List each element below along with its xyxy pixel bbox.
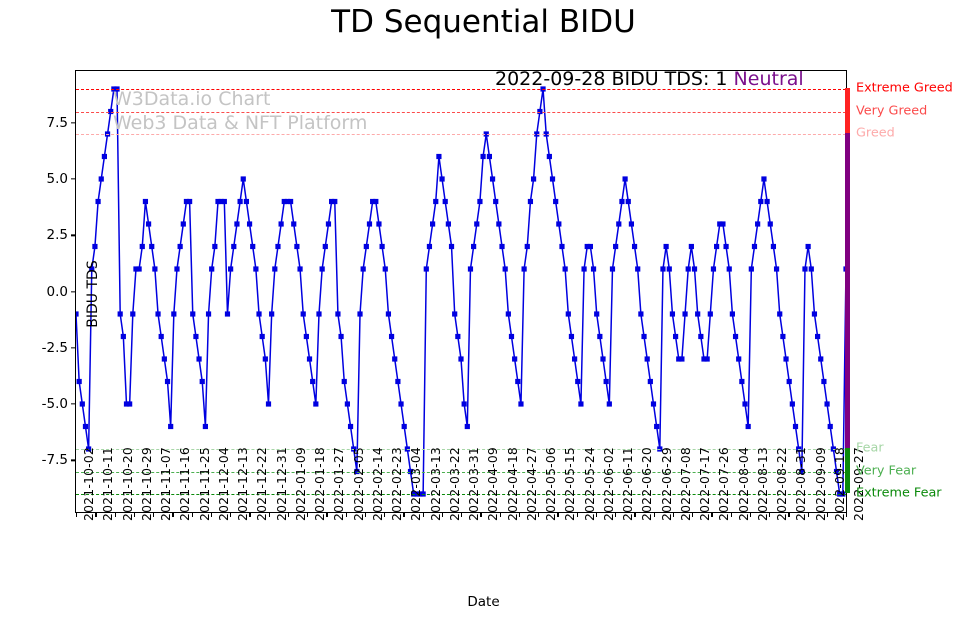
series-marker [361, 266, 366, 271]
series-marker [572, 356, 577, 361]
chart-page: TD Sequential BIDU BIDU TDS 7.55.02.50.0… [0, 0, 967, 633]
series-marker [616, 221, 621, 226]
series-marker [332, 199, 337, 204]
series-marker [635, 266, 640, 271]
x-tick-label: 2022-09-09 [813, 447, 828, 521]
series-marker [604, 379, 609, 384]
x-tick-label: 2022-07-08 [678, 447, 693, 521]
series-marker [99, 176, 104, 181]
x-tick-mark [230, 512, 231, 517]
series-marker [427, 244, 432, 249]
series-marker [692, 266, 697, 271]
series-marker [730, 311, 735, 316]
series-marker [733, 334, 738, 339]
x-tick-mark [326, 512, 327, 517]
x-tick-mark [384, 512, 385, 517]
series-marker [528, 199, 533, 204]
series-marker [458, 356, 463, 361]
series-marker [746, 424, 751, 429]
series-marker [780, 334, 785, 339]
series-marker [269, 311, 274, 316]
series-marker [266, 401, 271, 406]
series-marker [777, 311, 782, 316]
series-marker [629, 221, 634, 226]
x-tick-label: 2021-12-22 [254, 447, 269, 521]
series-marker [380, 244, 385, 249]
series-marker [228, 266, 233, 271]
series-marker [522, 266, 527, 271]
series-marker [664, 244, 669, 249]
series-marker [190, 311, 195, 316]
zone-label-fear: Fear [856, 441, 884, 456]
x-tick-label: 2022-02-05 [351, 447, 366, 521]
x-tick-label: 2022-01-18 [312, 447, 327, 521]
series-marker [768, 221, 773, 226]
series-marker [313, 401, 318, 406]
series-marker [821, 379, 826, 384]
series-marker [452, 311, 457, 316]
series-marker [342, 379, 347, 384]
x-axis-label: Date [0, 594, 967, 610]
x-tick-mark [500, 512, 501, 517]
series-marker [556, 221, 561, 226]
y-tick-mark [71, 460, 76, 461]
annotation-mood: Neutral [734, 68, 804, 90]
x-tick-mark [192, 512, 193, 517]
series-marker [200, 379, 205, 384]
series-marker [695, 311, 700, 316]
x-tick-label: 2022-06-29 [659, 447, 674, 521]
series-marker [679, 356, 684, 361]
series-marker [320, 266, 325, 271]
series-marker [824, 401, 829, 406]
series-marker [632, 244, 637, 249]
series-marker [723, 244, 728, 249]
x-tick-mark [846, 512, 847, 517]
series-marker [670, 311, 675, 316]
series-marker [550, 176, 555, 181]
x-tick-mark [731, 512, 732, 517]
x-tick-label: 2021-10-20 [120, 447, 135, 521]
x-tick-mark [827, 512, 828, 517]
series-marker [364, 244, 369, 249]
x-tick-label: 2022-01-27 [331, 447, 346, 521]
x-tick-label: 2022-08-13 [755, 447, 770, 521]
x-tick-mark [769, 512, 770, 517]
series-marker [121, 334, 126, 339]
series-marker [727, 266, 732, 271]
series-marker [812, 311, 817, 316]
x-tick-label: 2022-04-18 [505, 447, 520, 521]
series-marker [496, 221, 501, 226]
series-marker [771, 244, 776, 249]
x-tick-mark [403, 512, 404, 517]
x-tick-label: 2021-10-29 [139, 447, 154, 521]
series-marker [383, 266, 388, 271]
x-tick-label: 2022-06-02 [601, 447, 616, 521]
series-marker [152, 266, 157, 271]
series-marker [787, 379, 792, 384]
threshold-line-greed [76, 134, 846, 135]
x-tick-label: 2022-03-13 [428, 447, 443, 521]
series-marker [736, 356, 741, 361]
x-tick-mark [750, 512, 751, 517]
x-tick-label: 2022-05-15 [562, 447, 577, 521]
series-marker [181, 221, 186, 226]
x-tick-mark [538, 512, 539, 517]
series-marker [667, 266, 672, 271]
series-marker [436, 154, 441, 159]
series-marker [206, 311, 211, 316]
x-tick-label: 2021-10-02 [81, 447, 96, 521]
series-marker [294, 244, 299, 249]
series-marker [203, 424, 208, 429]
y-tick-mark [71, 122, 76, 123]
zone-label-very-greed: Very Greed [856, 103, 927, 118]
series-marker [222, 199, 227, 204]
series-marker [301, 311, 306, 316]
watermark-line-1: W3Data.io Chart [113, 88, 270, 110]
series-marker [253, 266, 258, 271]
series-marker [600, 356, 605, 361]
series-marker [563, 266, 568, 271]
series-marker [720, 221, 725, 226]
series-marker [487, 154, 492, 159]
series-marker [705, 356, 710, 361]
x-tick-label: 2022-02-14 [370, 447, 385, 521]
series-marker [140, 244, 145, 249]
x-tick-label: 2021-12-31 [274, 447, 289, 521]
x-tick-mark [153, 512, 154, 517]
series-marker [641, 334, 646, 339]
series-marker [651, 401, 656, 406]
series-marker [335, 311, 340, 316]
series-marker [468, 266, 473, 271]
series-marker [698, 334, 703, 339]
x-tick-label: 2022-03-04 [408, 447, 423, 521]
series-marker [373, 199, 378, 204]
x-tick-label: 2022-05-24 [582, 447, 597, 521]
series-marker [395, 379, 400, 384]
series-line [76, 89, 846, 494]
x-tick-mark [115, 512, 116, 517]
x-tick-label: 2022-08-04 [736, 447, 751, 521]
plot-area: BIDU TDS 7.55.02.50.0-2.5-5.0-7.52021-10… [75, 70, 847, 513]
series-marker [802, 266, 807, 271]
series-marker [828, 424, 833, 429]
series-marker [613, 244, 618, 249]
x-tick-mark [461, 512, 462, 517]
x-tick-label: 2022-01-09 [293, 447, 308, 521]
series-marker [272, 266, 277, 271]
x-tick-mark [134, 512, 135, 517]
x-tick-mark [95, 512, 96, 517]
x-tick-label: 2021-11-25 [197, 447, 212, 521]
series-marker [739, 379, 744, 384]
series-marker [581, 266, 586, 271]
series-marker [711, 266, 716, 271]
series-marker [660, 266, 665, 271]
series-marker [790, 401, 795, 406]
series-marker [256, 311, 261, 316]
x-tick-mark [172, 512, 173, 517]
y-axis-label: BIDU TDS [85, 224, 101, 364]
series-marker [686, 266, 691, 271]
x-tick-label: 2022-06-20 [639, 447, 654, 521]
series-marker [174, 266, 179, 271]
zone-label-extreme-fear: Extreme Fear [856, 486, 942, 501]
series-marker [559, 244, 564, 249]
series-marker [80, 401, 85, 406]
series-marker [304, 334, 309, 339]
series-marker [77, 379, 82, 384]
series-marker [193, 334, 198, 339]
x-tick-label: 2022-07-26 [716, 447, 731, 521]
x-tick-label: 2022-08-31 [793, 447, 808, 521]
series-marker [793, 424, 798, 429]
series-marker [591, 266, 596, 271]
series-marker [547, 154, 552, 159]
series-marker [398, 401, 403, 406]
series-marker [566, 311, 571, 316]
series-marker [597, 334, 602, 339]
series-marker [626, 199, 631, 204]
x-tick-label: 2022-07-17 [697, 447, 712, 521]
series-marker [619, 199, 624, 204]
series-marker [430, 221, 435, 226]
series-marker [102, 154, 107, 159]
series-marker [553, 199, 558, 204]
series-marker [392, 356, 397, 361]
series-marker [480, 154, 485, 159]
x-tick-mark [596, 512, 597, 517]
series-marker [326, 221, 331, 226]
series-marker [446, 221, 451, 226]
series-marker [638, 311, 643, 316]
x-tick-mark [442, 512, 443, 517]
y-tick-mark [71, 178, 76, 179]
x-tick-mark [519, 512, 520, 517]
x-tick-mark [634, 512, 635, 517]
x-tick-mark [480, 512, 481, 517]
page-title: TD Sequential BIDU [0, 4, 967, 40]
x-tick-mark [711, 512, 712, 517]
colorbar-segment-2 [845, 448, 850, 493]
series-marker [774, 266, 779, 271]
x-tick-mark [249, 512, 250, 517]
series-marker [171, 311, 176, 316]
series-marker [386, 311, 391, 316]
series-marker [247, 221, 252, 226]
x-tick-label: 2021-12-04 [216, 447, 231, 521]
series-marker [506, 311, 511, 316]
series-marker [187, 199, 192, 204]
x-tick-mark [577, 512, 578, 517]
series-marker [212, 244, 217, 249]
series-marker [462, 401, 467, 406]
series-marker [648, 379, 653, 384]
series-marker [433, 199, 438, 204]
series-marker [149, 244, 154, 249]
x-tick-mark [211, 512, 212, 517]
x-tick-mark [269, 512, 270, 517]
series-marker [673, 334, 678, 339]
x-tick-label: 2022-08-22 [774, 447, 789, 521]
series-marker [238, 199, 243, 204]
series-marker [493, 199, 498, 204]
series-marker [345, 401, 350, 406]
watermark-line-2: Web3 Data & NFT Platform [113, 112, 367, 134]
series-marker [783, 356, 788, 361]
series-marker [809, 266, 814, 271]
x-tick-label: 2022-04-09 [485, 447, 500, 521]
series-marker [196, 356, 201, 361]
series-marker [575, 379, 580, 384]
series-marker [234, 221, 239, 226]
x-tick-mark [788, 512, 789, 517]
series-marker [159, 334, 164, 339]
series-marker [806, 244, 811, 249]
series-marker [815, 334, 820, 339]
series-marker [338, 334, 343, 339]
x-tick-mark [346, 512, 347, 517]
series-marker [357, 311, 362, 316]
plot-inner [76, 71, 846, 512]
series-marker [137, 266, 142, 271]
series-marker [424, 266, 429, 271]
series-marker [178, 244, 183, 249]
x-tick-label: 2022-04-27 [524, 447, 539, 521]
last-value-annotation: 2022-09-28 BIDU TDS: 1 Neutral [495, 68, 804, 90]
annotation-text: 2022-09-28 BIDU TDS: 1 [495, 68, 728, 90]
series-marker [76, 311, 79, 316]
series-marker [503, 266, 508, 271]
x-tick-mark [307, 512, 308, 517]
series-marker [708, 311, 713, 316]
x-tick-mark [615, 512, 616, 517]
x-tick-label: 2022-02-23 [389, 447, 404, 521]
series-marker [307, 356, 312, 361]
series-marker [471, 244, 476, 249]
zone-label-greed: Greed [856, 126, 895, 141]
x-tick-mark [557, 512, 558, 517]
series-marker [818, 356, 823, 361]
series-marker [714, 244, 719, 249]
series-marker [758, 199, 763, 204]
series-marker [130, 311, 135, 316]
x-tick-mark [808, 512, 809, 517]
series-marker [588, 244, 593, 249]
y-tick-mark [71, 291, 76, 292]
series-marker [231, 244, 236, 249]
series-marker [578, 401, 583, 406]
series-marker [244, 199, 249, 204]
series-marker [761, 176, 766, 181]
series-marker [389, 334, 394, 339]
colorbar-segment-0 [845, 88, 850, 133]
series-marker [225, 311, 230, 316]
series-marker [209, 266, 214, 271]
series-marker [279, 221, 284, 226]
series-marker [143, 199, 148, 204]
series-marker [260, 334, 265, 339]
series-marker [682, 311, 687, 316]
series-marker [118, 311, 123, 316]
series-marker [250, 244, 255, 249]
series-marker [323, 244, 328, 249]
series-marker [127, 401, 132, 406]
series-marker [490, 176, 495, 181]
x-tick-label: 2021-11-16 [177, 447, 192, 521]
series-marker [291, 221, 296, 226]
series-marker [645, 356, 650, 361]
x-tick-label: 2022-03-22 [447, 447, 462, 521]
series-marker [297, 266, 302, 271]
series-marker [749, 266, 754, 271]
series-marker [348, 424, 353, 429]
series-marker [765, 199, 770, 204]
series-marker [755, 221, 760, 226]
series-marker [525, 244, 530, 249]
series-marker [512, 356, 517, 361]
zone-label-very-fear: Very Fear [856, 463, 916, 478]
series-marker [610, 266, 615, 271]
series-marker [275, 244, 280, 249]
series-marker [594, 311, 599, 316]
x-tick-label: 2021-11-07 [158, 447, 173, 521]
series-marker [155, 311, 160, 316]
series-marker [162, 356, 167, 361]
tds-line-series [76, 71, 846, 512]
series-marker [241, 176, 246, 181]
y-tick-mark [71, 347, 76, 348]
x-tick-mark [76, 512, 77, 517]
x-tick-mark [423, 512, 424, 517]
x-tick-mark [654, 512, 655, 517]
series-marker [316, 311, 321, 316]
series-marker [515, 379, 520, 384]
series-marker [752, 244, 757, 249]
x-tick-label: 2022-03-31 [466, 447, 481, 521]
series-marker [146, 221, 151, 226]
y-tick-mark [71, 403, 76, 404]
series-marker [689, 244, 694, 249]
series-marker [367, 221, 372, 226]
series-marker [310, 379, 315, 384]
series-marker [165, 379, 170, 384]
series-marker [263, 356, 268, 361]
series-marker [402, 424, 407, 429]
series-marker [607, 401, 612, 406]
series-marker [499, 244, 504, 249]
series-marker [288, 199, 293, 204]
series-marker [465, 424, 470, 429]
series-marker [439, 176, 444, 181]
colorbar-segment-1 [845, 133, 850, 448]
series-marker [443, 199, 448, 204]
x-tick-mark [288, 512, 289, 517]
series-marker [474, 221, 479, 226]
x-tick-label: 2022-09-27 [851, 447, 866, 521]
x-tick-label: 2021-10-11 [100, 447, 115, 521]
series-marker [531, 176, 536, 181]
series-marker [168, 424, 173, 429]
y-tick-mark [71, 235, 76, 236]
series-marker [509, 334, 514, 339]
series-marker [623, 176, 628, 181]
x-tick-label: 2021-12-13 [235, 447, 250, 521]
series-marker [455, 334, 460, 339]
